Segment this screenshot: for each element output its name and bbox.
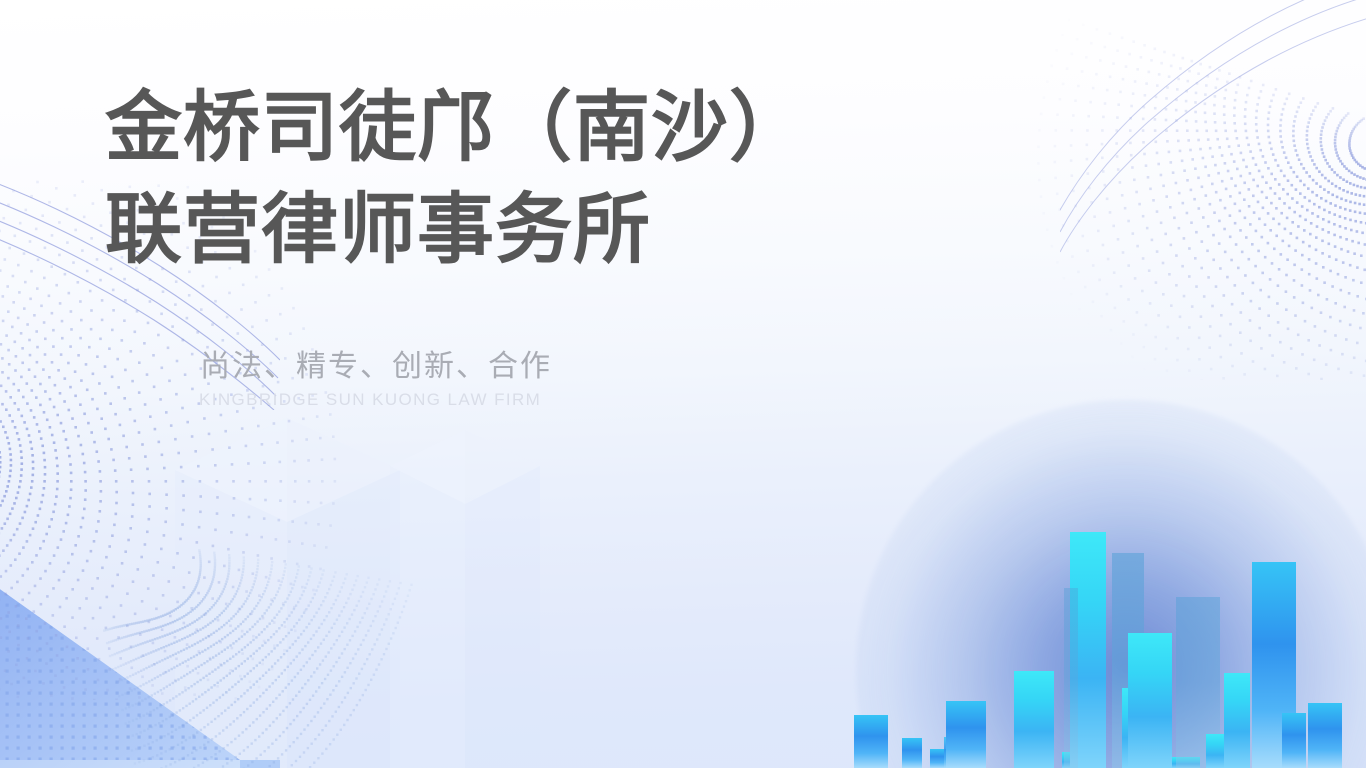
- chart-bar: [1282, 713, 1306, 768]
- chart-bar: [1128, 633, 1172, 768]
- title-slide: 金桥司徒邝（南沙） 联营律师事务所 尚法、精专、创新、合作 KINGBRIDGE…: [0, 0, 1366, 768]
- chart-bar: [1014, 671, 1054, 768]
- chart-bar: [946, 701, 986, 768]
- chart-bar: [902, 738, 922, 768]
- chart-bar: [854, 715, 888, 768]
- chart-bar: [1064, 588, 1078, 768]
- chart-bar: [1308, 703, 1342, 768]
- title-line-1: 金桥司徒邝（南沙）: [105, 78, 945, 180]
- title-line-2: 联营律师事务所: [105, 180, 945, 282]
- tagline-english: KINGBRIDGE SUN KUONG LAW FIRM: [199, 390, 541, 410]
- page-title: 金桥司徒邝（南沙） 联营律师事务所: [105, 78, 945, 283]
- chart-bar: [1224, 673, 1250, 768]
- tagline-chinese: 尚法、精专、创新、合作: [200, 341, 552, 385]
